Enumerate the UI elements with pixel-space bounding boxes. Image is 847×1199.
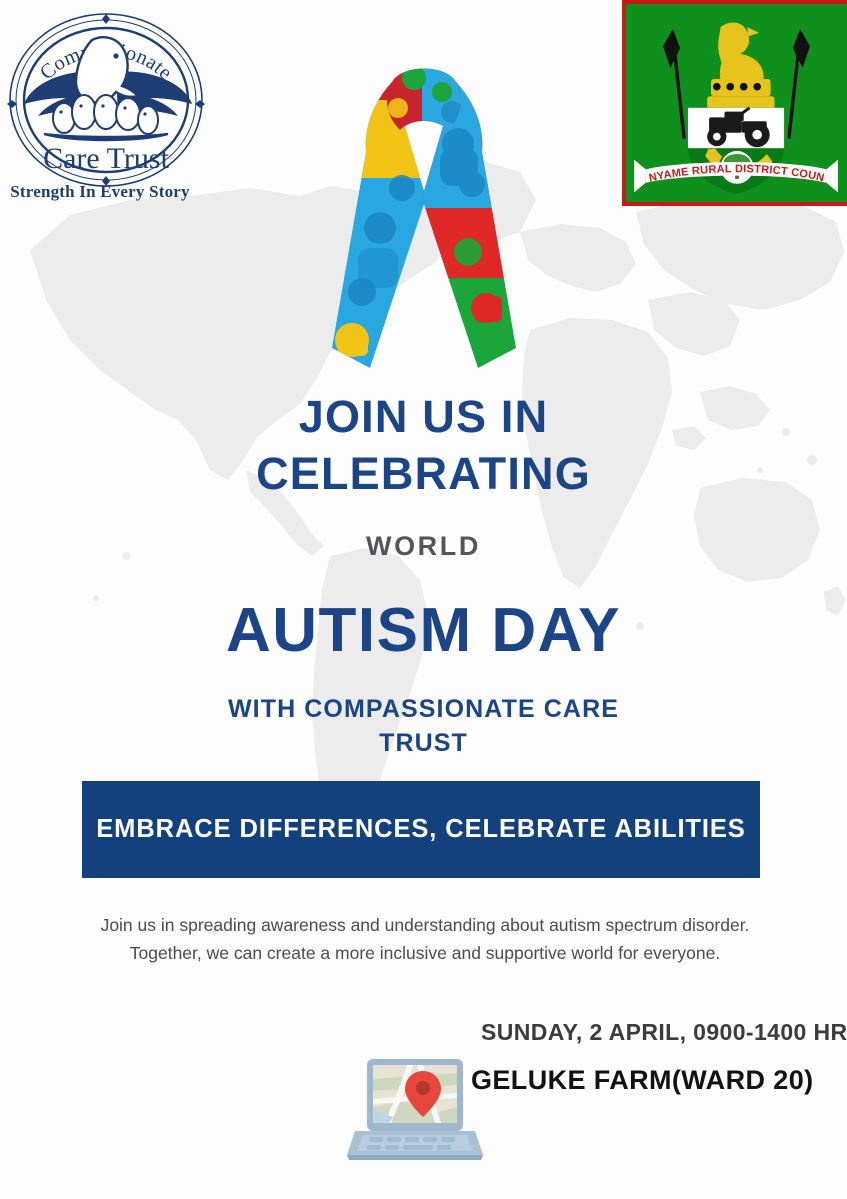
headline-line-2: CELEBRATING <box>0 445 847 502</box>
event-date-time: SUNDAY, 2 APRIL, 0900-1400 HRS <box>481 1019 847 1046</box>
page-title: JOIN US IN CELEBRATING <box>0 388 847 502</box>
world-label: WORLD <box>0 531 847 562</box>
autism-day-poster: Compassionate <box>0 0 847 1199</box>
slogan-banner: EMBRACE DIFFERENCES, CELEBRATE ABILITIES <box>82 781 760 878</box>
organizer-line-1: WITH COMPASSIONATE CARE <box>0 692 847 726</box>
cct-tagline: Strength In Every Story <box>0 182 200 202</box>
organizer-subtitle: WITH COMPASSIONATE CARE TRUST <box>0 692 847 760</box>
manyame-rural-district-council-logo: MANYAME RURAL DISTRICT COUNCIL <box>622 0 847 206</box>
body-paragraph: Join us in spreading awareness and under… <box>100 911 750 967</box>
laptop-map-pin-icon <box>345 1055 485 1165</box>
slogan-text: EMBRACE DIFFERENCES, CELEBRATE ABILITIES <box>96 815 745 844</box>
autism-awareness-puzzle-ribbon-icon <box>318 48 530 383</box>
event-venue: GELUKE FARM(WARD 20) <box>471 1065 814 1096</box>
organizer-line-2: TRUST <box>0 726 847 760</box>
event-title: AUTISM DAY <box>0 595 847 666</box>
cct-name-text: Care Trust <box>43 142 170 175</box>
headline-line-1: JOIN US IN <box>0 388 847 445</box>
